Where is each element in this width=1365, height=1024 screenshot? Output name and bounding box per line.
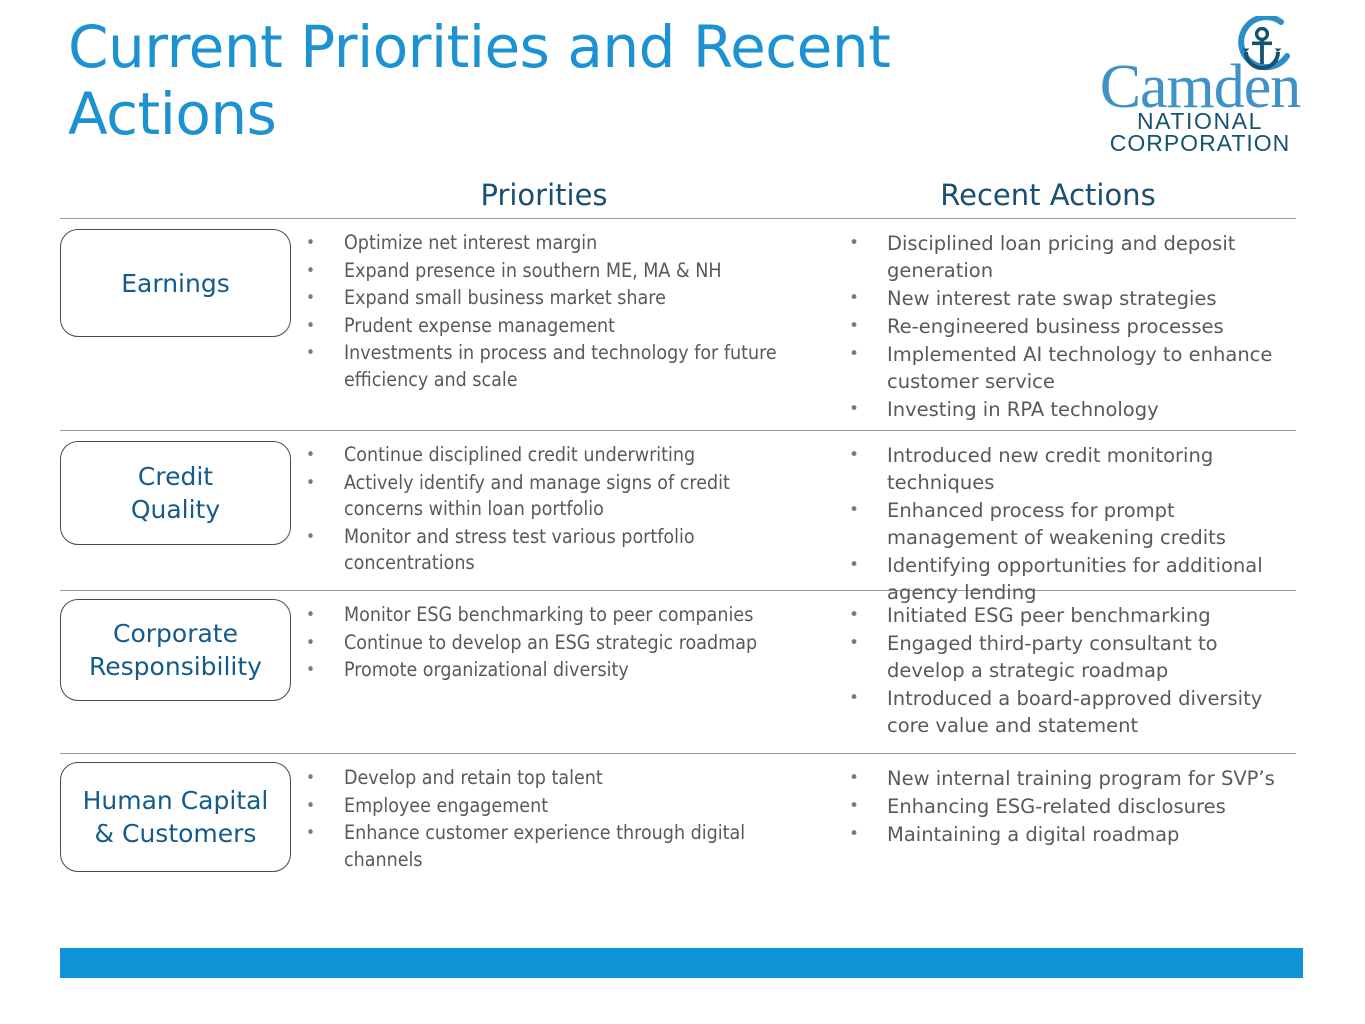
bullet-item: Investing in RPA technology <box>849 396 1296 423</box>
company-logo: Camden NATIONAL CORPORATION <box>1091 16 1309 150</box>
footer-accent-bar <box>60 948 1303 978</box>
bullet-item: Optimize net interest margin <box>306 230 805 257</box>
bullet-item: Disciplined loan pricing and deposit gen… <box>849 230 1296 284</box>
column-header-priorities: Priorities <box>366 178 722 212</box>
page-title: Current Priorities and Recent Actions <box>68 14 988 149</box>
row-label-text: CorporateResponsibility <box>85 617 266 683</box>
bullet-item: Enhance customer experience through digi… <box>306 820 805 873</box>
bullet-item: Develop and retain top talent <box>306 765 805 792</box>
page-number: 6 <box>1313 951 1327 976</box>
row-label-text: Human Capital& Customers <box>79 784 273 850</box>
matrix-row: CorporateResponsibility Monitor ESG benc… <box>60 590 1296 753</box>
bullet-list-priorities: Develop and retain top talentEmployee en… <box>306 765 805 873</box>
bullet-item: Employee engagement <box>306 793 805 820</box>
bullet-item: Prudent expense management <box>306 313 805 340</box>
row-label-corporate-responsibility[interactable]: CorporateResponsibility <box>60 599 291 701</box>
bullet-item: New interest rate swap strategies <box>849 285 1296 312</box>
row-label-earnings[interactable]: Earnings <box>60 229 291 337</box>
column-header-recent-actions: Recent Actions <box>800 178 1296 212</box>
priorities-matrix: Earnings Optimize net interest marginExp… <box>60 218 1296 901</box>
bullet-item: Monitor and stress test various portfoli… <box>306 524 805 577</box>
bullet-list-recent-actions: New internal training program for SVP’sE… <box>849 765 1296 848</box>
row-label-text: CreditQuality <box>127 460 224 526</box>
bullet-item: Re-engineered business processes <box>849 313 1296 340</box>
bullet-list-recent-actions: Disciplined loan pricing and deposit gen… <box>849 230 1296 423</box>
bullet-item: Continue disciplined credit underwriting <box>306 442 805 469</box>
bullet-list-priorities: Monitor ESG benchmarking to peer compani… <box>306 602 805 684</box>
bullet-item: Investments in process and technology fo… <box>306 340 805 393</box>
bullet-item: Enhanced process for prompt management o… <box>849 497 1296 551</box>
bullet-item: Initiated ESG peer benchmarking <box>849 602 1296 629</box>
bullet-item: Promote organizational diversity <box>306 657 805 684</box>
bullet-item: Engaged third-party consultant to develo… <box>849 630 1296 684</box>
bullet-list-recent-actions: Introduced new credit monitoring techniq… <box>849 442 1296 606</box>
row-label-text: Earnings <box>117 267 233 300</box>
bullet-item: Enhancing ESG-related disclosures <box>849 793 1296 820</box>
bullet-list-priorities: Continue disciplined credit underwriting… <box>306 442 805 577</box>
matrix-row: Earnings Optimize net interest marginExp… <box>60 218 1296 430</box>
matrix-row: Human Capital& Customers Develop and ret… <box>60 753 1296 901</box>
row-label-credit-quality[interactable]: CreditQuality <box>60 441 291 545</box>
bullet-list-priorities: Optimize net interest marginExpand prese… <box>306 230 805 393</box>
bullet-item: Expand presence in southern ME, MA & NH <box>306 258 805 285</box>
cell-recent-actions: Introduced new credit monitoring techniq… <box>805 431 1296 607</box>
row-label-human-capital-customers[interactable]: Human Capital& Customers <box>60 762 291 872</box>
bullet-item: Introduced a board-approved diversity co… <box>849 685 1296 739</box>
bullet-item: Implemented AI technology to enhance cus… <box>849 341 1296 395</box>
logo-line-corporation: CORPORATION <box>1091 130 1309 157</box>
bullet-item: Actively identify and manage signs of cr… <box>306 470 805 523</box>
bullet-item: Continue to develop an ESG strategic roa… <box>306 630 805 657</box>
bullet-item: New internal training program for SVP’s <box>849 765 1296 792</box>
cell-recent-actions: Initiated ESG peer benchmarkingEngaged t… <box>805 591 1296 740</box>
bullet-item: Expand small business market share <box>306 285 805 312</box>
bullet-item: Introduced new credit monitoring techniq… <box>849 442 1296 496</box>
matrix-row: CreditQuality Continue disciplined credi… <box>60 430 1296 590</box>
cell-recent-actions: New internal training program for SVP’sE… <box>805 754 1296 874</box>
bullet-list-recent-actions: Initiated ESG peer benchmarkingEngaged t… <box>849 602 1296 739</box>
bullet-item: Monitor ESG benchmarking to peer compani… <box>306 602 805 629</box>
bullet-item: Maintaining a digital roadmap <box>849 821 1296 848</box>
cell-recent-actions: Disciplined loan pricing and deposit gen… <box>805 219 1296 424</box>
